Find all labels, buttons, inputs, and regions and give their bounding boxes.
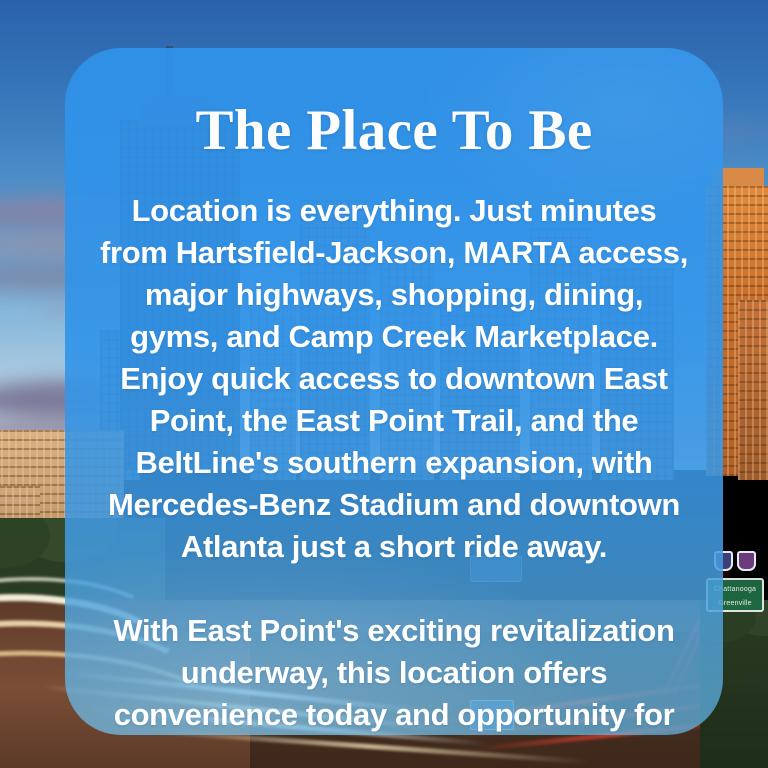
page-title: The Place To Be — [99, 100, 689, 162]
route-shield-icon — [737, 551, 756, 571]
body-paragraph-1: Location is everything. Just minutes fro… — [99, 190, 689, 568]
lit-tower-right-secondary — [738, 300, 768, 480]
body-paragraph-2: With East Point's exciting revitalizatio… — [99, 610, 689, 735]
poster-canvas: Chattanooga Greenville The Place To Be L… — [0, 0, 768, 768]
content-card: The Place To Be Location is everything. … — [65, 48, 723, 735]
card-content: The Place To Be Location is everything. … — [65, 48, 723, 735]
